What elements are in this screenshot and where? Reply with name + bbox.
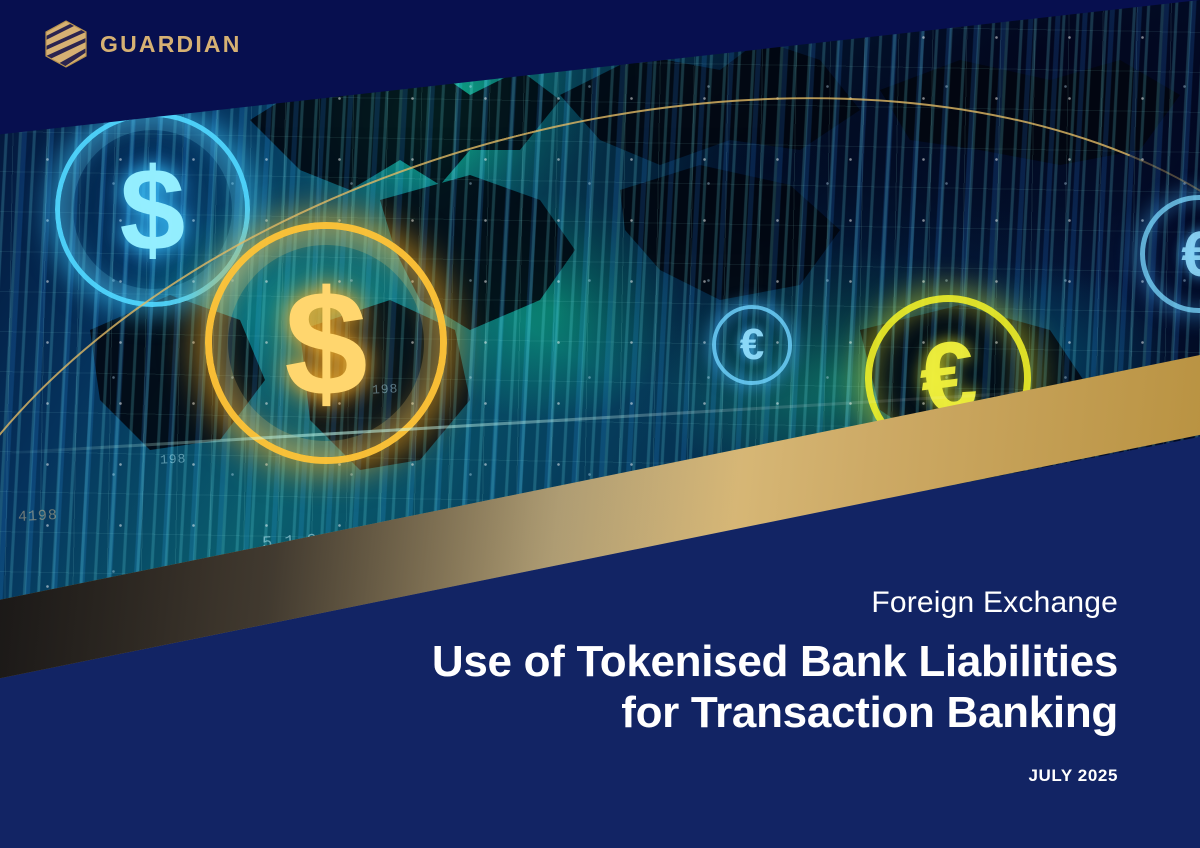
coin-outline-small-icon: €: [712, 305, 792, 385]
ticker-number: 198: [372, 381, 399, 397]
coin-outline-large-symbol: €: [1181, 222, 1200, 286]
title-block: Foreign Exchange Use of Tokenised Bank L…: [418, 586, 1118, 786]
coin-outline-small-symbol: €: [740, 323, 764, 367]
ticker-number: 4198: [18, 507, 59, 526]
page-title-line-1: Use of Tokenised Bank Liabilities: [432, 637, 1118, 686]
usd-coin-gold-symbol: $: [284, 268, 367, 418]
page-title-line-2: for Transaction Banking: [621, 688, 1118, 737]
usd-coin-blue-symbol: $: [120, 151, 186, 269]
document-date: JULY 2025: [418, 766, 1118, 786]
ticker-number: 198: [160, 451, 187, 467]
cover-page: $ $ € € € 198 4198 5 1 9 3 8 4 1 7 2 8 3…: [0, 0, 1200, 848]
brand-name: GUARDIAN: [100, 31, 242, 58]
document-category: Foreign Exchange: [418, 586, 1118, 620]
page-title: Use of Tokenised Bank Liabilities for Tr…: [418, 636, 1118, 738]
euro-coin-yellow-symbol: €: [914, 325, 981, 431]
usd-coin-blue-icon: $: [55, 112, 250, 307]
guardian-logo[interactable]: GUARDIAN: [44, 20, 242, 68]
hexagon-stripes-logo-icon: [44, 20, 88, 68]
